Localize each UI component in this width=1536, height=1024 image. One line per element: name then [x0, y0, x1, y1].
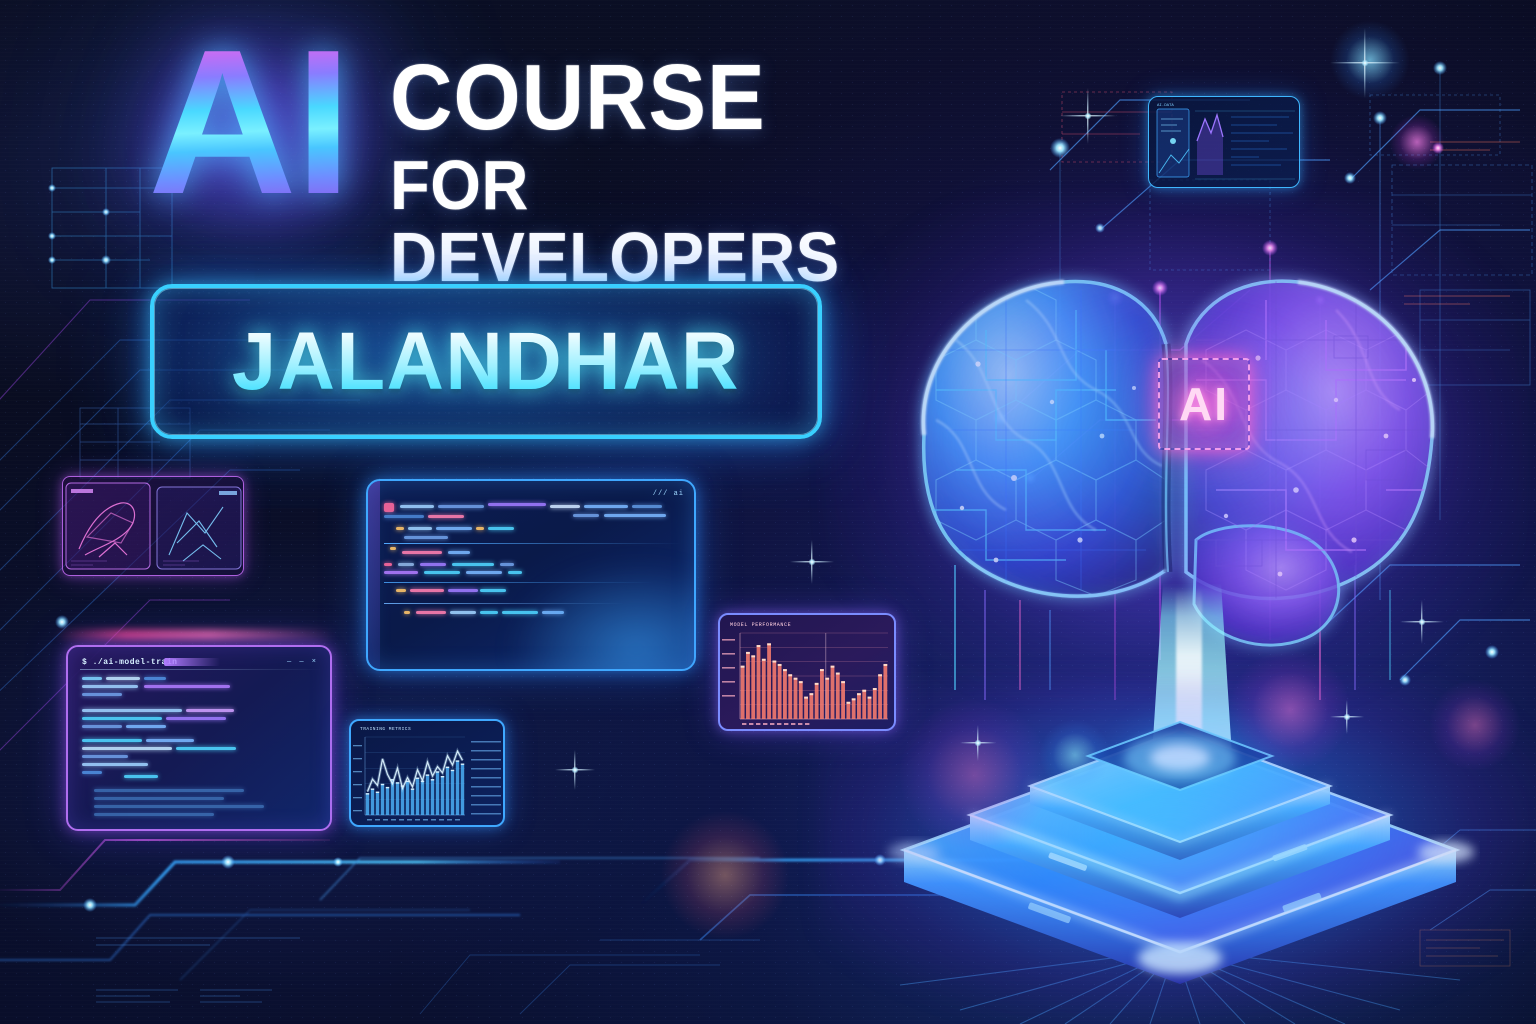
headline-block: AI COURSE FOR DEVELOPERS: [148, 38, 1008, 293]
line-chart-icon: [351, 721, 505, 827]
city-name-label: JALANDHAR: [232, 315, 740, 409]
bar: [778, 664, 782, 719]
bar: [804, 697, 808, 719]
code-line: [573, 514, 599, 517]
lens-flare-icon: [660, 810, 790, 940]
bar: [799, 681, 803, 719]
metrics-chart-panel[interactable]: TRAINING METRICS: [349, 719, 505, 827]
code-line: [186, 709, 234, 712]
bar: [873, 688, 877, 719]
ai-chip-label: AI: [1179, 377, 1229, 431]
bar: [376, 792, 379, 815]
code-line: [410, 589, 444, 592]
analytics-icon: AI.DATA: [1149, 97, 1300, 188]
code-line: [384, 571, 418, 574]
bar: [371, 788, 374, 815]
code-line: [82, 725, 122, 728]
bar: [868, 697, 872, 719]
star-sparkle-icon: [555, 750, 595, 790]
svg-text:AI.DATA: AI.DATA: [1157, 104, 1174, 108]
bar: [772, 661, 776, 719]
bar: [441, 776, 444, 815]
code-line: [488, 527, 514, 530]
code-line: [476, 527, 484, 530]
code-line: [604, 514, 666, 517]
hologram-icon: [63, 477, 244, 576]
bar: [767, 643, 771, 719]
bar: [831, 666, 835, 719]
bar: [788, 674, 792, 719]
bar: [411, 788, 414, 815]
ai-wordmark: AI: [148, 38, 356, 217]
lens-flare-icon: [1330, 20, 1410, 100]
bar: [426, 774, 429, 815]
code-line: [82, 677, 102, 680]
code-line: [124, 775, 158, 778]
bar: [421, 781, 424, 815]
code-line: [542, 611, 564, 614]
bar: [431, 779, 434, 815]
bar: [862, 690, 866, 719]
bar-chart-title: MODEL PERFORMANCE: [730, 622, 791, 628]
code-line: [82, 747, 172, 750]
code-line: [500, 563, 514, 566]
bar: [783, 669, 787, 719]
ai-chip-badge: AI: [1158, 358, 1250, 450]
code-line: [466, 571, 502, 574]
code-line: [502, 611, 538, 614]
poster-canvas: AI: [0, 0, 1536, 1024]
code-editor-panel[interactable]: /// ai: [366, 479, 696, 671]
bar: [878, 674, 882, 719]
code-line: [488, 503, 546, 506]
bar: [846, 702, 850, 719]
code-line: [384, 515, 424, 518]
code-line: [396, 589, 406, 592]
code-line: [402, 551, 442, 554]
code-line: [448, 551, 470, 554]
code-line: [106, 677, 140, 680]
code-panel-tag: /// ai: [653, 490, 684, 498]
code-line: [166, 717, 226, 720]
bar: [751, 655, 755, 719]
processor-chip-icon: [880, 700, 1480, 1000]
code-line: [632, 505, 662, 508]
title-line-2: FOR DEVELOPERS: [390, 150, 965, 293]
code-line: [450, 611, 476, 614]
bar: [815, 683, 819, 719]
code-line: [508, 571, 522, 574]
platform-glow: [820, 680, 1536, 1020]
terminal-title-highlight: [164, 658, 220, 666]
bar: [809, 693, 813, 719]
code-line: [408, 527, 432, 530]
bar: [396, 782, 399, 815]
bar-chart-icon: [720, 615, 896, 731]
code-line: [480, 611, 498, 614]
line-chart-title: TRAINING METRICS: [360, 727, 411, 732]
code-line: [82, 693, 122, 696]
bar: [762, 659, 766, 719]
code-line: [436, 527, 472, 530]
code-line: [420, 563, 446, 566]
bar: [461, 764, 464, 815]
bar: [381, 784, 384, 815]
star-sparkle-icon: [1330, 28, 1400, 98]
lens-flare-icon: [1390, 115, 1444, 169]
code-line: [448, 589, 478, 592]
code-line: [144, 677, 166, 680]
bar: [857, 693, 861, 719]
code-line: [82, 763, 148, 766]
performance-bar-chart-panel[interactable]: MODEL PERFORMANCE: [718, 613, 896, 731]
bar: [746, 652, 750, 719]
bar: [451, 770, 454, 815]
code-line: [146, 739, 194, 742]
star-sparkle-icon: [1060, 88, 1116, 144]
city-name-plate: JALANDHAR: [150, 284, 822, 439]
bar: [406, 781, 409, 815]
terminal-accent-bar: [56, 630, 336, 640]
title-line-1: COURSE: [390, 54, 965, 140]
code-line: [390, 547, 396, 550]
code-line: [94, 797, 224, 800]
code-line: [94, 805, 264, 808]
code-line: [424, 571, 460, 574]
code-line: [384, 503, 394, 512]
code-line: [94, 789, 244, 792]
bar: [416, 778, 419, 815]
code-line: [398, 563, 414, 566]
code-line: [404, 611, 410, 614]
bar: [757, 645, 761, 719]
code-line: [584, 505, 628, 508]
bar: [436, 771, 439, 815]
code-line: [452, 563, 494, 566]
code-line: [396, 527, 404, 530]
code-line: [82, 709, 182, 712]
bar: [852, 698, 856, 719]
code-line: [438, 505, 484, 508]
bar: [366, 793, 369, 815]
terminal-panel[interactable]: $ ./ai-model-train — — ×: [66, 645, 332, 831]
code-line: [82, 755, 128, 758]
code-line: [400, 505, 434, 508]
code-line: [82, 717, 162, 720]
bar: [841, 681, 845, 719]
code-line: [384, 563, 392, 566]
code-line: [428, 515, 464, 518]
code-line: [550, 505, 580, 508]
bar: [820, 669, 824, 719]
code-line: [404, 536, 448, 539]
bar: [456, 760, 459, 815]
bar: [386, 787, 389, 815]
code-line: [416, 611, 446, 614]
bar: [446, 767, 449, 815]
bar: [794, 678, 798, 719]
code-line: [144, 685, 230, 688]
code-line: [82, 771, 102, 774]
bar: [836, 673, 840, 719]
code-line: [176, 747, 236, 750]
code-line: [480, 589, 506, 592]
analytics-hud-panel[interactable]: AI.DATA: [1148, 96, 1300, 188]
code-line: [82, 739, 142, 742]
bar: [741, 666, 745, 719]
code-line: [94, 813, 214, 816]
terminal-window-controls[interactable]: — — ×: [287, 658, 318, 666]
bar: [883, 664, 887, 719]
code-line: [126, 725, 166, 728]
hologram-hud-panel[interactable]: [62, 476, 244, 576]
code-line: [82, 685, 138, 688]
